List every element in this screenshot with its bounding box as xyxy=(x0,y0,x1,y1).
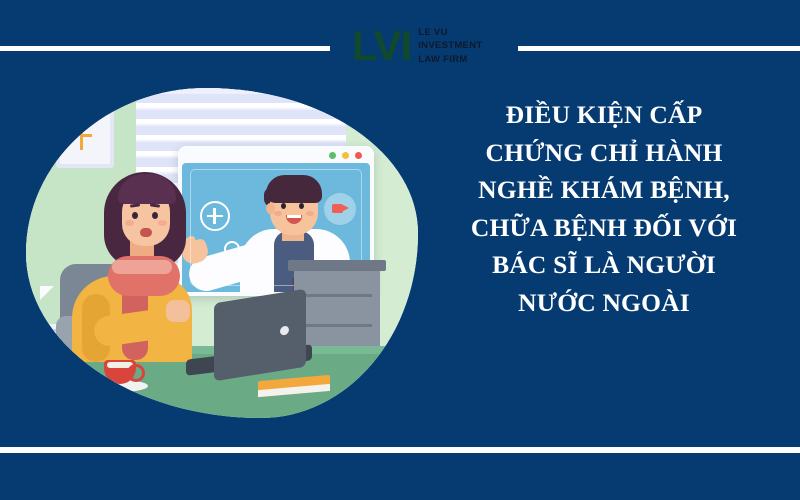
doctor-eyebrow xyxy=(297,197,306,200)
poster-canvas: LVI LE VU INVESTMENT LAW FIRM ĐIỀU KIỆN … xyxy=(0,0,800,500)
doctor-mouth xyxy=(286,215,302,224)
doctor-cheek xyxy=(306,211,314,216)
headline-line-1: ĐIỀU KIỆN CẤP xyxy=(418,96,790,134)
doctor-head xyxy=(270,181,318,235)
logo-line-1: LE VU xyxy=(418,26,482,39)
doctor-eye xyxy=(299,203,304,209)
headline-line-5: BÁC SĨ LÀ NGƯỜI xyxy=(418,246,790,284)
woman-cheek xyxy=(125,220,134,226)
doctor-eye xyxy=(281,203,286,209)
bubble-icon xyxy=(224,241,240,257)
logo-wordmark: LE VU INVESTMENT LAW FIRM xyxy=(418,26,482,65)
woman-eye xyxy=(152,212,158,219)
headline-line-6: NƯỚC NGOÀI xyxy=(418,284,790,322)
video-window-titlebar xyxy=(178,146,374,163)
cabinet-top xyxy=(288,260,386,271)
headline-line-4: CHỮA BỆNH ĐỐI VỚI xyxy=(418,209,790,247)
woman-cheek xyxy=(158,220,167,226)
horizontal-rule-bottom xyxy=(0,447,800,453)
illustration-blob xyxy=(26,88,418,418)
horizontal-rule-right xyxy=(518,46,800,51)
woman-scarf-highlight xyxy=(112,260,172,274)
video-camera-icon xyxy=(324,193,356,225)
laptop xyxy=(214,289,306,382)
doctor-cheek xyxy=(274,211,282,216)
doctor-eyebrow xyxy=(279,197,288,200)
doctor-neck xyxy=(282,221,304,241)
brand-logo: LVI LE VU INVESTMENT LAW FIRM xyxy=(352,20,522,72)
logo-line-3: LAW FIRM xyxy=(418,53,482,66)
headline-line-2: CHỨNG CHỈ HÀNH xyxy=(418,134,790,172)
window-dot-red-icon[interactable] xyxy=(355,152,362,159)
doctor-hair xyxy=(266,175,322,203)
office-cabinet xyxy=(294,268,380,352)
doctor-arm xyxy=(185,237,283,292)
window-dot-green-icon[interactable] xyxy=(329,152,336,159)
woman-mouth xyxy=(140,228,152,237)
woman-hand xyxy=(166,300,190,322)
doctor-ear xyxy=(266,203,275,214)
plus-icon xyxy=(200,201,230,231)
headline-line-3: NGHỀ KHÁM BỆNH, xyxy=(418,171,790,209)
window-dot-yellow-icon[interactable] xyxy=(342,152,349,159)
logo-line-2: INVESTMENT xyxy=(418,39,482,52)
horizontal-rule-left xyxy=(0,46,330,51)
speech-bubble-tail xyxy=(40,286,54,300)
logo-mark-lvi: LVI xyxy=(352,25,411,67)
headline-block: ĐIỀU KIỆN CẤP CHỨNG CHỈ HÀNH NGHỀ KHÁM B… xyxy=(418,96,790,321)
doctor-hair-side xyxy=(264,187,276,207)
bubble-icon xyxy=(268,183,286,201)
woman-eye xyxy=(132,212,138,219)
wall-picture-frame xyxy=(56,104,114,168)
